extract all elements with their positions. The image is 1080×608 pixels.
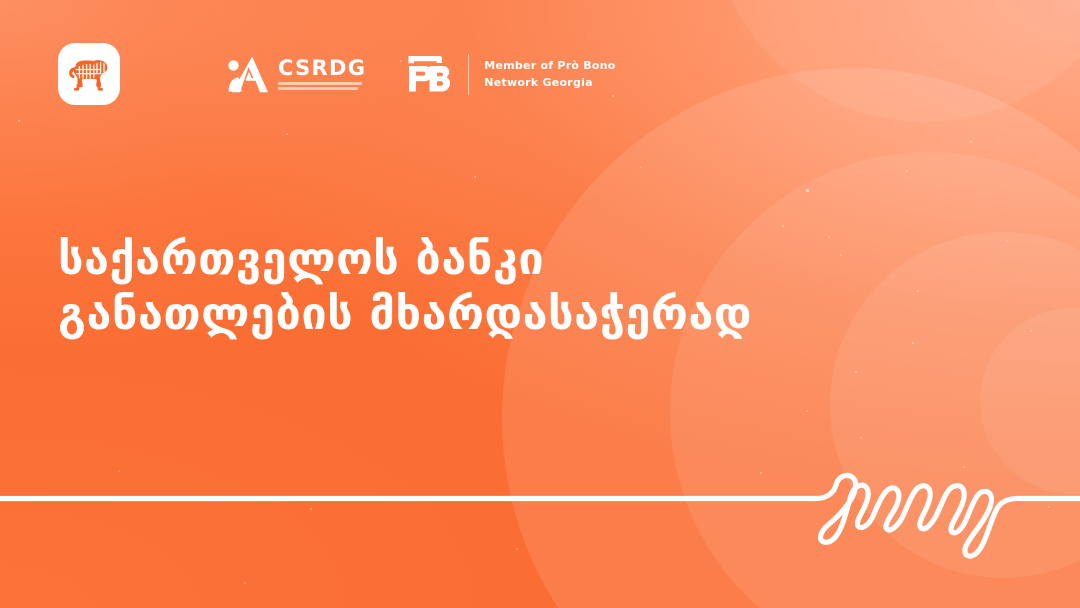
sparkle-dot [1030, 330, 1032, 332]
signature-rule [0, 468, 1080, 608]
pro-bono-divider [468, 54, 469, 95]
sparkle-dot [970, 141, 972, 143]
sparkle-dot [906, 170, 908, 172]
sparkle-dot [806, 410, 808, 412]
pro-bono-network-logo[interactable]: Member of Prò Bono Network Georgia [404, 50, 615, 98]
handwritten-georgian-wordmark [0, 468, 1080, 608]
sparkle-dot [806, 189, 809, 192]
csrdg-subtitle [278, 82, 366, 90]
headline: საქართველოს ბანკი განათლების მხარდასაჭერ… [58, 232, 752, 342]
sparkle-dot [917, 290, 919, 292]
sparkle-dot [828, 236, 830, 238]
sparkle-dot [1006, 240, 1008, 242]
sparkle-dot [474, 176, 476, 178]
csrdg-logo[interactable]: CSRDG [227, 51, 366, 97]
sparkle-dot [840, 254, 842, 256]
csrdg-text-block: CSRDG [278, 58, 366, 90]
sparkle-dot [640, 166, 642, 168]
lion-icon [66, 54, 112, 94]
logo-bar: CSRDG [58, 43, 616, 105]
promo-slide: CSRDG [0, 0, 1080, 608]
headline-line-1: საქართველოს ბანკი [58, 232, 752, 287]
csrdg-mark-icon [227, 51, 269, 97]
sparkle-dot [782, 225, 784, 227]
headline-line-2: განათლების მხარდასაჭერად [58, 287, 752, 342]
sparkle-dot [855, 371, 857, 373]
sparkle-dot [18, 120, 20, 122]
pb-monogram-icon [404, 50, 452, 98]
sparkle-dot [912, 342, 914, 344]
pro-bono-text-block: Member of Prò Bono Network Georgia [484, 57, 615, 91]
pro-bono-line-2: Network Georgia [484, 74, 615, 91]
sparkle-dot [286, 133, 288, 135]
bank-of-georgia-logo[interactable] [58, 43, 120, 105]
pro-bono-line-1: Member of Prò Bono [484, 57, 615, 74]
csrdg-acronym: CSRDG [278, 58, 366, 79]
sparkle-dot [860, 437, 862, 439]
